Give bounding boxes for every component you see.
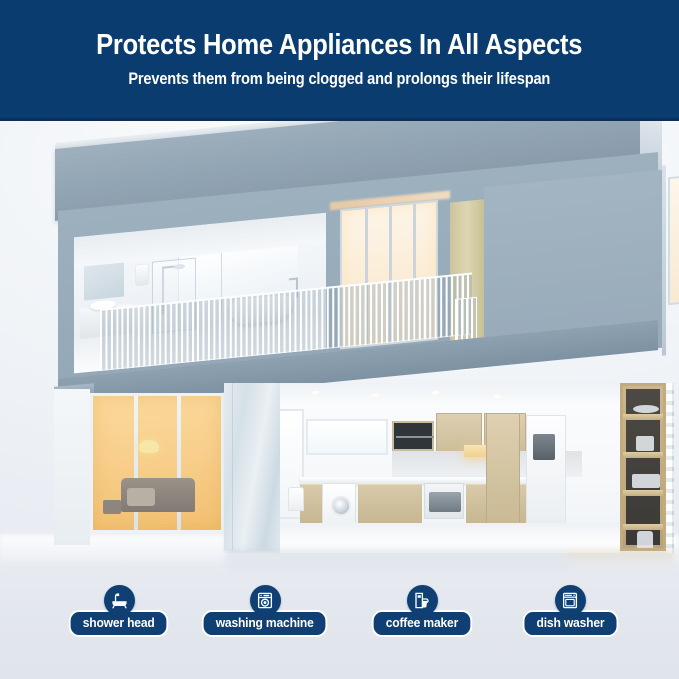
kitchen-ceiling <box>280 383 620 407</box>
storage-jar <box>637 531 653 551</box>
appliance-badge-row: shower head washing machine coffee maker <box>0 585 679 651</box>
perforated-screen-panel <box>666 383 674 553</box>
open-shelving-unit <box>620 383 666 551</box>
washing-machine <box>322 483 356 525</box>
water-heater <box>136 264 148 285</box>
badge-washing-machine[interactable]: washing machine <box>180 585 350 637</box>
glassware <box>636 436 654 451</box>
washer-drum-door <box>331 496 351 516</box>
lower-floor <box>54 383 674 553</box>
shelf-board <box>623 414 663 420</box>
page-subtitle: Prevents them from being clogged and pro… <box>129 70 551 88</box>
bathroom-mirror <box>84 263 124 301</box>
floor-reflection <box>226 549 566 575</box>
dishwasher-icon <box>555 585 586 616</box>
fridge-water-dispenser <box>533 434 555 460</box>
open-wall-shelf <box>392 421 434 451</box>
coffee-maker-icon <box>407 585 438 616</box>
badge-coffee-maker[interactable]: coffee maker <box>337 585 507 637</box>
shelf-board <box>623 452 663 458</box>
ceiling-downlight <box>494 395 501 398</box>
badge-shower-head[interactable]: shower head <box>34 585 204 637</box>
kitchen-utensils <box>632 474 660 488</box>
tall-pantry-cabinet <box>486 413 520 525</box>
sofa-cushion <box>127 488 155 506</box>
far-right-window <box>668 172 679 305</box>
shelf-board <box>623 524 663 530</box>
floor-reflection-right <box>566 549 674 569</box>
oven-door-glass <box>429 492 461 512</box>
dining-chair <box>288 487 304 511</box>
base-cabinet <box>358 484 422 524</box>
living-room <box>90 393 224 533</box>
ceiling-downlight <box>312 391 319 394</box>
kitchen <box>280 383 620 553</box>
page-title: Protects Home Appliances In All Aspects <box>96 30 582 60</box>
built-in-oven <box>424 483 464 519</box>
refrigerator <box>526 415 566 525</box>
floor-lamp <box>139 440 159 453</box>
ceiling-downlight <box>432 391 439 394</box>
header-banner: Protects Home Appliances In All Aspects … <box>0 0 679 118</box>
marble-column <box>224 383 280 551</box>
building-corner-edge <box>662 165 666 355</box>
washing-machine-icon <box>250 585 281 616</box>
ceiling-downlight <box>372 394 379 397</box>
lower-left-wall <box>54 389 90 545</box>
shelf-board <box>623 490 663 496</box>
kitchen-window <box>306 419 388 455</box>
ottoman <box>103 500 121 514</box>
badge-dish-washer[interactable]: dish washer <box>485 585 655 637</box>
bathtub-shower-icon <box>104 585 135 616</box>
stacked-plates <box>633 405 659 413</box>
